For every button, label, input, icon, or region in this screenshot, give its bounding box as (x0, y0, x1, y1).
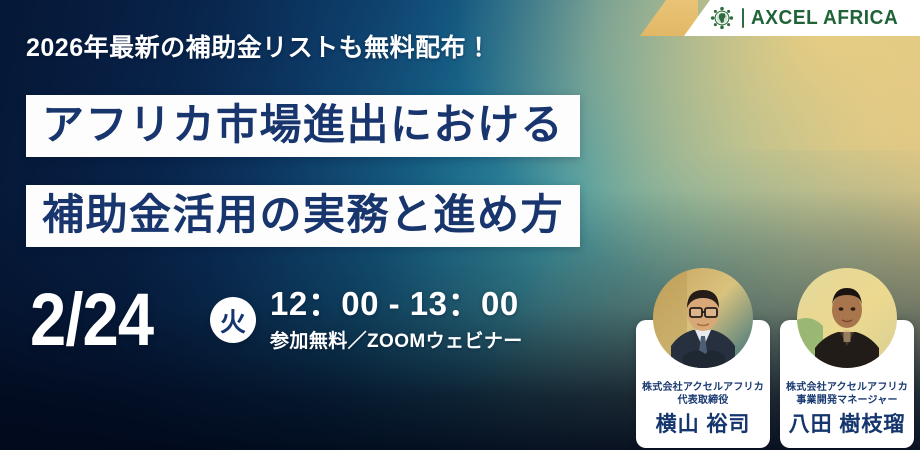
speaker-card-2: 株式会社アクセルアフリカ 事業開発マネージャー 八田 樹枝瑠 (780, 268, 914, 448)
speaker-role: 代表取締役 (678, 394, 729, 408)
speaker-photo-yokoyama (653, 268, 753, 368)
speaker-photo-hatta (797, 268, 897, 368)
event-time: 12：00 - 13：00 (270, 287, 523, 322)
event-time-block: 12：00 - 13：00 参加無料／ZOOMウェビナー (270, 287, 523, 354)
speaker-company: 株式会社アクセルアフリカ (786, 381, 908, 395)
speaker-role: 事業開発マネージャー (796, 394, 897, 408)
logo-text: AXCEL AFRICA (751, 7, 898, 30)
webinar-banner: AXCEL AFRICA 2026年最新の補助金リストも無料配布！ アフリカ市場… (0, 0, 920, 450)
speaker-name: 八田 樹枝瑠 (789, 413, 906, 436)
speaker-company: 株式会社アクセルアフリカ (642, 381, 764, 395)
headline-line-2: 補助金活用の実務と進め方 (26, 185, 580, 247)
logo-divider (742, 8, 744, 28)
event-note: 参加無料／ZOOMウェビナー (270, 326, 523, 353)
speaker-card-1: 株式会社アクセルアフリカ 代表取締役 横山 裕司 (636, 268, 770, 448)
africa-globe-emblem-icon (709, 5, 735, 31)
speaker-list: 株式会社アクセルアフリカ 代表取締役 横山 裕司 (636, 268, 914, 448)
headline-line-1: アフリカ市場進出における (26, 95, 580, 157)
event-date: 2/24 (30, 283, 153, 357)
event-weekday-badge: 火 (210, 297, 256, 343)
subtitle-text: 2026年最新の補助金リストも無料配布！ (26, 28, 492, 64)
brand-logo-bar: AXCEL AFRICA (684, 0, 920, 36)
event-datetime: 2/24 火 12：00 - 13：00 参加無料／ZOOMウェビナー (30, 283, 523, 357)
speaker-name: 横山 裕司 (656, 413, 751, 436)
